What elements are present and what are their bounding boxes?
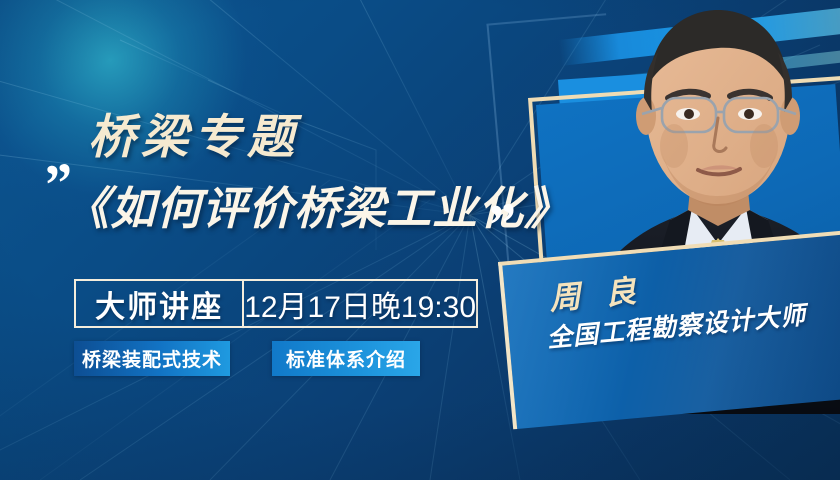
topic-tag-list: 桥梁装配式技术 标准体系介绍 [74,341,494,376]
headline-main: 桥梁专题 [88,98,300,167]
poster-canvas: 周 良 全国工程勘察设计大师 ” 桥梁专题 《如何评价桥梁工业化》 ” 大师讲座… [0,0,840,480]
lecture-label-cell: 大师讲座 [76,281,244,326]
lecture-datetime-cell: 12月17日晚19:30 [244,281,476,326]
topic-tag[interactable]: 标准体系介绍 [272,341,420,376]
topic-tag[interactable]: 桥梁装配式技术 [74,341,230,376]
lecture-info-box: 大师讲座 12月17日晚19:30 [74,279,478,328]
speaker-nameplate: 周 良 全国工程勘察设计大师 [498,229,840,430]
lecture-datetime: 12月17日晚19:30 [244,282,476,326]
lecture-label: 大师讲座 [95,282,223,326]
